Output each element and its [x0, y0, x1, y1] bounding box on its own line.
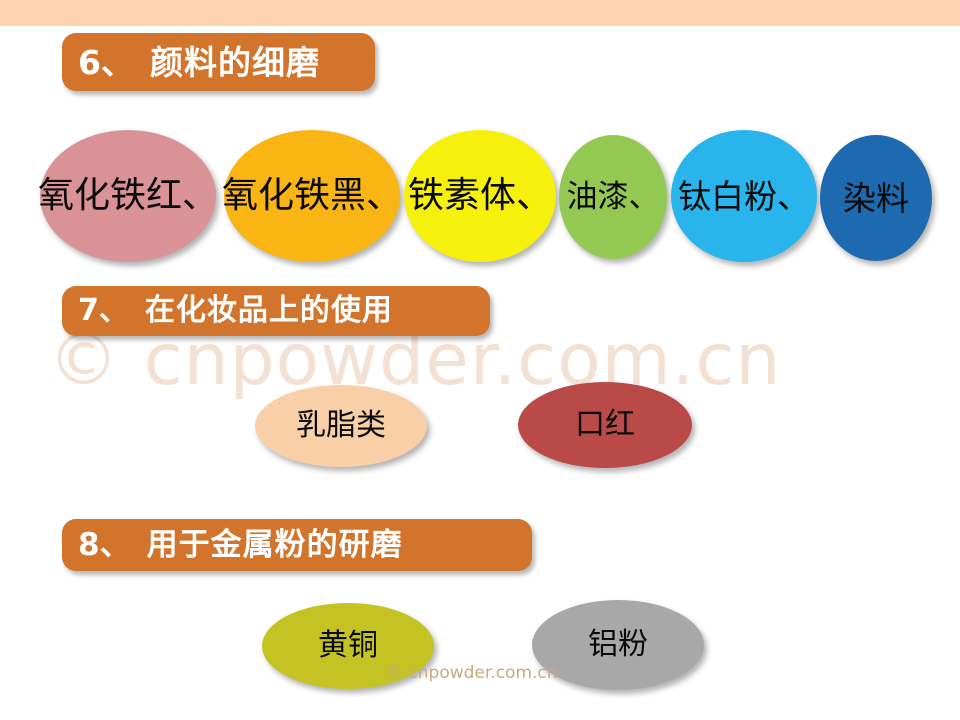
bubble-iron-oxide-red[interactable]: 氧化铁红、 [40, 130, 216, 262]
bubble-label: 乳脂类 [296, 411, 386, 441]
bubble-aluminum-powder[interactable]: 铝粉 [532, 600, 704, 690]
section-header-6: 6、 颜料的细磨 [62, 33, 375, 91]
section-number-8: 8、 [78, 530, 147, 561]
bubble-cream-fats[interactable]: 乳脂类 [255, 385, 427, 467]
bubble-label: 口红 [575, 410, 635, 440]
bubble-titanium-dioxide[interactable]: 钛白粉、 [671, 130, 817, 262]
slide-canvas: © cnpowder.com.cn 6、 颜料的细磨 氧化铁红、 氧化铁黑、 铁… [0, 0, 960, 720]
bubble-ferrite[interactable]: 铁素体、 [404, 130, 556, 262]
bubble-label: 钛白粉、 [678, 180, 810, 213]
bubble-iron-oxide-black[interactable]: 氧化铁黑、 [224, 130, 400, 262]
bubble-paint[interactable]: 油漆、 [559, 135, 667, 259]
section-number-7: 7、 [78, 296, 145, 326]
bubble-label: 油漆、 [567, 182, 660, 213]
bubble-brass[interactable]: 黄铜 [262, 603, 434, 689]
section-number-6: 6、 [78, 46, 150, 79]
bubble-label: 染料 [843, 182, 909, 215]
section-title-8: 用于金属粉的研磨 [147, 530, 403, 561]
section-header-7: 7、 在化妆品上的使用 [62, 286, 490, 336]
section-header-8: 8、 用于金属粉的研磨 [62, 519, 532, 571]
bubble-label: 铝粉 [588, 630, 648, 660]
bubble-label: 铁素体、 [408, 178, 552, 214]
section-title-6: 颜料的细磨 [150, 46, 320, 79]
bubble-lipstick[interactable]: 口红 [518, 382, 692, 468]
bubble-label: 氧化铁红、 [38, 178, 218, 214]
bubble-label: 氧化铁黑、 [222, 178, 402, 214]
bubble-dye[interactable]: 染料 [820, 135, 932, 261]
section-title-7: 在化妆品上的使用 [145, 296, 393, 326]
bubble-label: 黄铜 [318, 631, 378, 661]
top-decorative-banner [0, 0, 960, 26]
